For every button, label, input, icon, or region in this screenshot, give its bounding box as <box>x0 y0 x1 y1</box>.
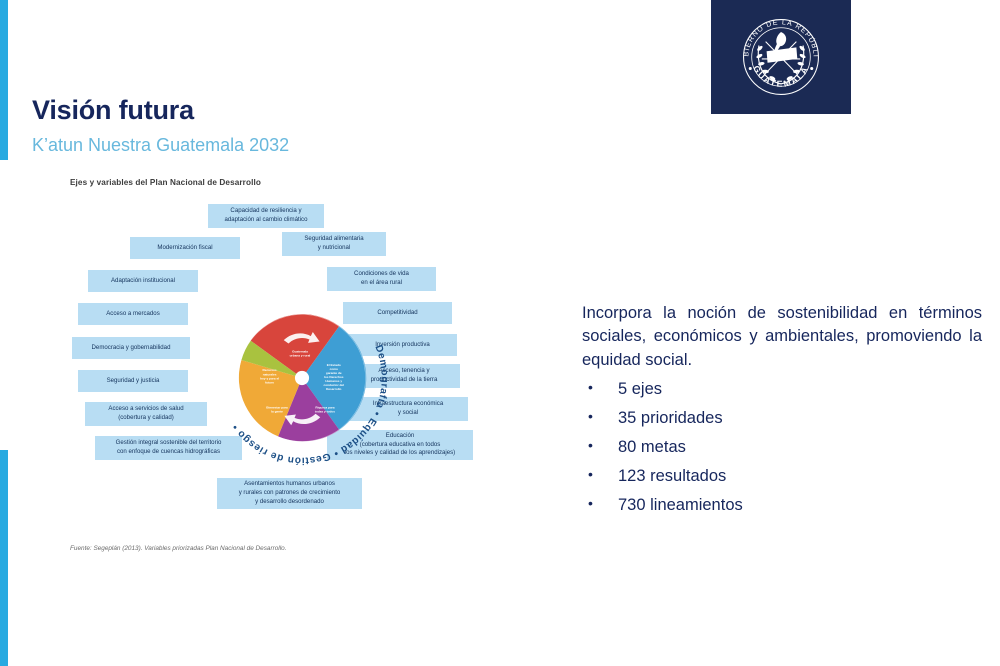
chip-seguridad-justicia: Seguridad y justicia <box>78 370 188 392</box>
page-subtitle: K’atun Nuestra Guatemala 2032 <box>32 135 289 156</box>
figure-caption: Ejes y variables del Plan Nacional de De… <box>70 178 261 187</box>
segment-label-riqueza-para-todas-todos: Riqueza paratodas y todos <box>315 405 335 413</box>
development-plan-wheel-diagram: Capacidad de resiliencia yadaptación al … <box>60 190 580 550</box>
svg-text:Guatemalaurbana y rural: Guatemalaurbana y rural <box>290 349 311 357</box>
chip-capacidad-resiliencia: Capacidad de resiliencia yadaptación al … <box>208 204 324 228</box>
bullet-item: 730 lineamientos <box>582 494 982 518</box>
guatemala-coat-of-arms-icon: GOBIERNO DE LA REPÚBLICA GUATEMALA <box>733 9 829 105</box>
description-block: Incorpora la noción de sostenibilidad en… <box>582 302 982 523</box>
wheel-svg: Demografía • Equidad • Gestión de riesgo… <box>202 278 402 478</box>
figure-source: Fuente: Segeplán (2013). Variables prior… <box>70 545 286 552</box>
svg-text:Riqueza paratodas y todos: Riqueza paratodas y todos <box>315 405 335 413</box>
segment-label-guatemala-urbana-rural: Guatemalaurbana y rural <box>290 349 311 357</box>
bullet-item: 80 metas <box>582 436 982 460</box>
chip-modernizacion-fiscal: Modernización fiscal <box>130 237 240 259</box>
bullet-item: 5 ejes <box>582 378 982 402</box>
bullet-item: 35 prioridades <box>582 407 982 431</box>
chip-seguridad-alimentaria: Seguridad alimentariay nutricional <box>282 232 386 256</box>
chip-acceso-mercados: Acceso a mercados <box>78 303 188 325</box>
accent-bar-top <box>0 0 8 160</box>
government-logo: GOBIERNO DE LA REPÚBLICA GUATEMALA <box>711 0 851 114</box>
wheel-hub <box>295 371 309 385</box>
five-axis-wheel: Demografía • Equidad • Gestión de riesgo… <box>202 278 402 478</box>
bullet-item: 123 resultados <box>582 465 982 489</box>
slide-root: GOBIERNO DE LA REPÚBLICA GUATEMALA <box>0 0 1000 666</box>
chip-acceso-servicios-salud: Acceso a servicios de salud(cobertura y … <box>85 402 207 426</box>
chip-democracia-gobernabilidad: Democracia y gobernabilidad <box>72 337 190 359</box>
accent-bar-bottom <box>0 450 8 666</box>
stats-bullet-list: 5 ejes 35 prioridades 80 metas 123 resul… <box>582 378 982 518</box>
chip-asentamientos-humanos: Asentamientos humanos urbanosy rurales c… <box>217 478 362 509</box>
page-title: Visión futura <box>32 95 194 126</box>
description-paragraph: Incorpora la noción de sostenibilidad en… <box>582 302 982 372</box>
chip-adaptacion-institucional: Adaptación institucional <box>88 270 198 292</box>
